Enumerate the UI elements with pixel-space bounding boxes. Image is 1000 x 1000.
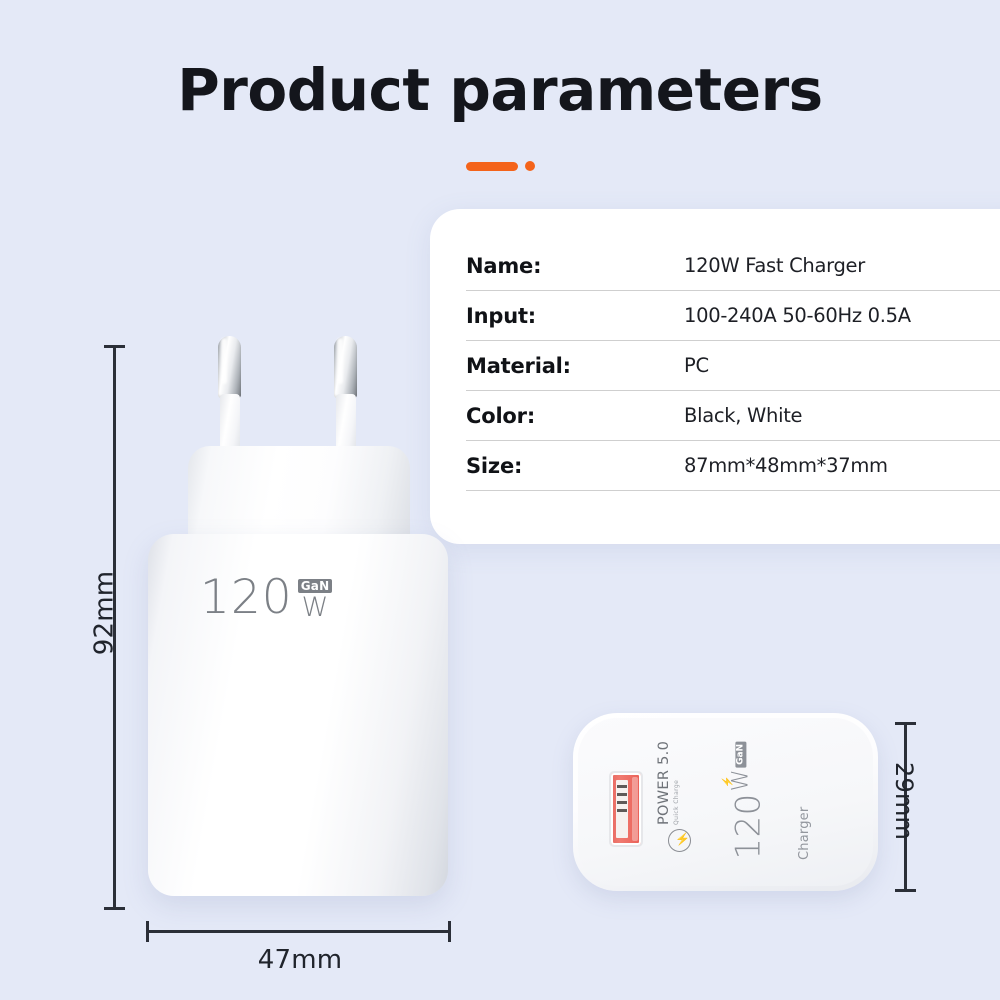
infographic-canvas: Product parameters Name: 120W Fast Charg…	[0, 0, 1000, 1000]
gan-badge: GaN	[298, 579, 333, 593]
charger-small-image: ⚡ POWER 5.0 Quick Charge 120 ⚡ W GaN Cha…	[573, 713, 878, 891]
table-row: Material: PC	[466, 341, 1000, 391]
charger-large-image: 120 GaN W	[148, 336, 448, 906]
spec-label-name: Name:	[466, 254, 684, 278]
charger-word-label: Charger	[797, 807, 812, 860]
dimension-line-width	[146, 930, 451, 933]
table-row: Name: 120W Fast Charger	[466, 241, 1000, 291]
gan-badge: GaN	[735, 742, 746, 768]
table-row: Input: 100-240A 50-60Hz 0.5A	[466, 291, 1000, 341]
bolt-glyph: ⚡	[675, 833, 690, 845]
dimension-label-width: 47mm	[0, 945, 600, 975]
charger-wattage-marking: 120 GaN W	[200, 576, 332, 621]
usb-port-tongue	[616, 780, 628, 838]
lightning-bolt-icon: ⚡	[668, 829, 691, 852]
dimension-label-depth: 29mm	[890, 762, 918, 840]
table-row: Color: Black, White	[466, 391, 1000, 441]
quick-charge-text: POWER 5.0 Quick Charge	[656, 741, 680, 825]
wattage-number: 120	[200, 576, 293, 621]
spec-label-material: Material:	[466, 354, 684, 378]
usb-port-slot	[632, 777, 638, 841]
spec-value-input: 100-240A 50-60Hz 0.5A	[684, 304, 1000, 327]
charger-small-marking: 120 ⚡ W GaN Charger	[764, 750, 874, 868]
title-divider	[466, 160, 538, 172]
spec-value-size: 87mm*48mm*37mm	[684, 454, 1000, 477]
divider-dot	[525, 161, 535, 171]
power-label: POWER 5.0	[656, 741, 672, 825]
spec-value-name: 120W Fast Charger	[684, 254, 1000, 277]
table-row: Size: 87mm*48mm*37mm	[466, 441, 1000, 491]
spec-card: Name: 120W Fast Charger Input: 100-240A …	[430, 209, 1000, 544]
usb-a-port-icon	[611, 773, 641, 845]
spec-label-color: Color:	[466, 404, 684, 428]
spec-label-input: Input:	[466, 304, 684, 328]
wattage-number: 120	[733, 794, 764, 860]
gan-watt-stack: GaN W	[298, 576, 333, 621]
dimension-label-height: 92mm	[89, 571, 119, 656]
charger-small-face: ⚡ POWER 5.0 Quick Charge 120 ⚡ W GaN Cha…	[578, 718, 873, 886]
watt-unit: W	[302, 594, 329, 621]
quick-charge-logo: ⚡ POWER 5.0 Quick Charge	[666, 766, 706, 852]
prong-tip	[334, 336, 357, 398]
page-title: Product parameters	[0, 56, 1000, 124]
spec-label-size: Size:	[466, 454, 684, 478]
quick-charge-label: Quick Charge	[673, 780, 680, 825]
divider-bar	[466, 162, 518, 171]
plug-prong-right-icon	[334, 336, 357, 454]
plug-prong-left-icon	[218, 336, 241, 454]
bolt-mini-icon: ⚡	[723, 776, 733, 788]
watt-unit-wrap: ⚡ W	[730, 770, 752, 792]
spec-value-color: Black, White	[684, 404, 1000, 427]
wattage-marking-rotated: 120 ⚡ W GaN	[733, 742, 764, 860]
spec-value-material: PC	[684, 354, 1000, 377]
spec-table: Name: 120W Fast Charger Input: 100-240A …	[466, 241, 1000, 491]
prong-tip	[218, 336, 241, 398]
